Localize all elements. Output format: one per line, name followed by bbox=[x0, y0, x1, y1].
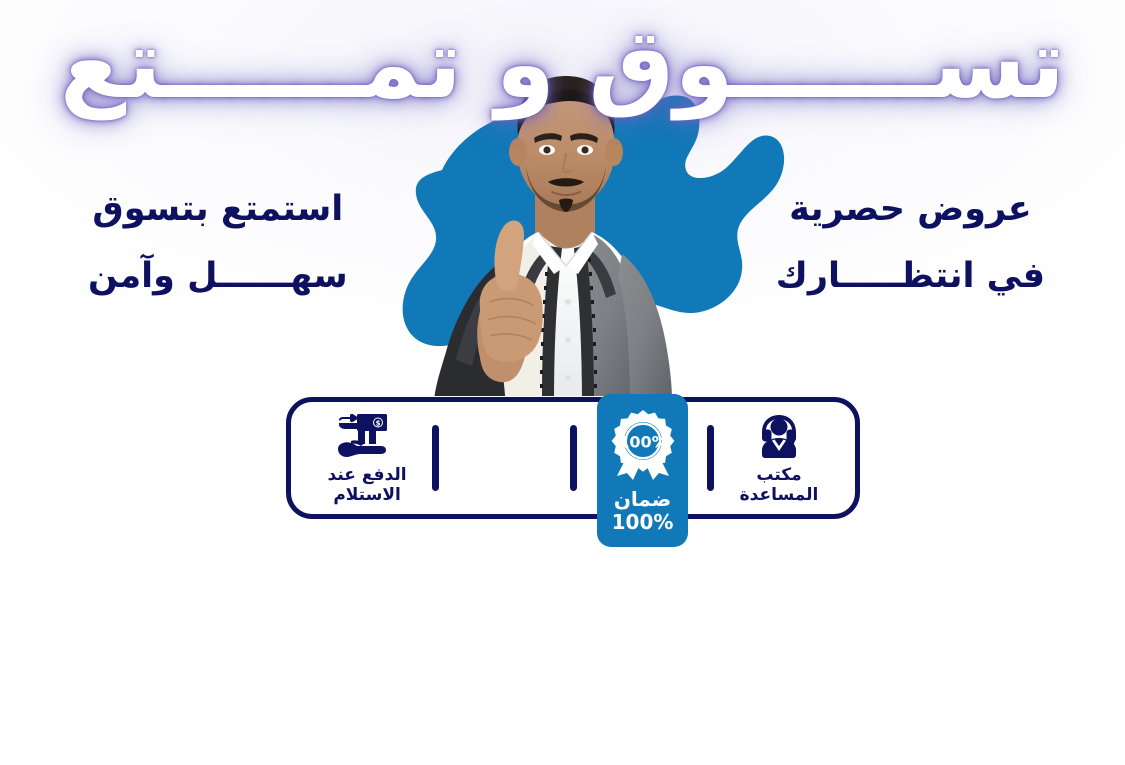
tagline-right: عروض حصرية في انتظـــــارك bbox=[776, 176, 1045, 309]
tagline-left-line1: استمتع بتسوق bbox=[88, 176, 348, 243]
guarantee-card[interactable]: 100% ضمان 100% bbox=[597, 394, 688, 547]
divider-3 bbox=[432, 425, 439, 491]
tagline-left-line2: سهــــــل وآمن bbox=[88, 243, 348, 310]
tagline-left: استمتع بتسوق سهــــــل وآمن bbox=[88, 176, 348, 309]
feature-help-desk[interactable]: مكتب المساعدة bbox=[719, 411, 839, 506]
feature-cash-on-delivery-label: الدفع عند الاستلام bbox=[328, 465, 407, 506]
divider-2 bbox=[570, 425, 577, 491]
feature-cash-on-delivery[interactable]: $ الدفع عند الاستلام bbox=[307, 411, 427, 506]
headset-support-icon bbox=[753, 411, 805, 461]
cash-on-delivery-icon: $ bbox=[337, 411, 397, 461]
headline: تســــــوق و تمــــــتع bbox=[0, 14, 1125, 115]
feature-help-desk-label: مكتب المساعدة bbox=[740, 465, 819, 506]
tagline-right-line1: عروض حصرية bbox=[776, 176, 1045, 243]
divider-1 bbox=[707, 425, 714, 491]
feature-bar: مكتب المساعدة شحن مجاني bbox=[286, 397, 860, 519]
rosette-badge-text: 100% bbox=[618, 432, 667, 451]
guarantee-label: ضمان 100% bbox=[612, 488, 674, 534]
tagline-right-line2: في انتظـــــارك bbox=[776, 243, 1045, 310]
svg-text:$: $ bbox=[376, 419, 381, 427]
rosette-ribbon-icon: 100% bbox=[609, 408, 677, 482]
promo-banner: تســــــوق و تمــــــتع عروض حصرية في ان… bbox=[0, 0, 1125, 765]
